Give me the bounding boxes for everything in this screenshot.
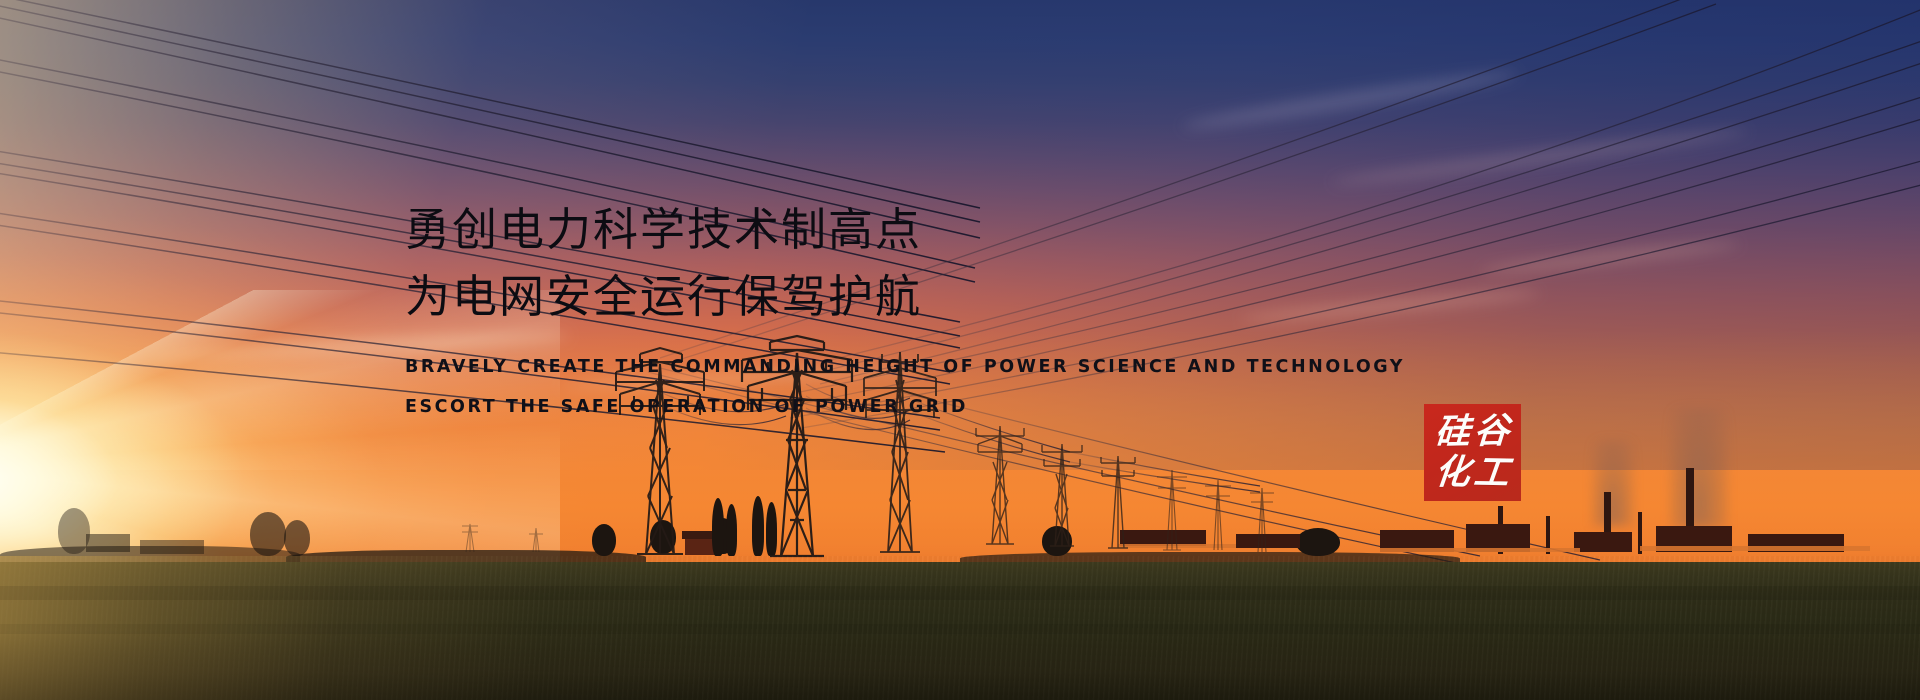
seal-text-line-2: 化工	[1429, 452, 1515, 493]
headline-line-1: 勇创电力科学技术制高点	[405, 196, 1405, 263]
subtitle-line-1: BRAVELY CREATE THE COMMANDING HEIGHT OF …	[405, 347, 1405, 387]
seal-inner: 硅谷 化工	[1424, 404, 1521, 501]
subtitle-line-2: ESCORT THE SAFE OPERATION OF POWER GRID	[405, 387, 1405, 427]
field-furrow-band-1	[0, 586, 1920, 600]
banner-copy: 勇创电力科学技术制高点 为电网安全运行保驾护航 BRAVELY CREATE T…	[405, 196, 1405, 427]
field-vignette	[0, 630, 1920, 700]
hero-banner: 勇创电力科学技术制高点 为电网安全运行保驾护航 BRAVELY CREATE T…	[0, 0, 1920, 700]
seal-text-line-1: 硅谷	[1430, 411, 1515, 453]
company-seal-logo[interactable]: 硅谷 化工	[1424, 404, 1521, 501]
headline-line-2: 为电网安全运行保驾护航	[405, 263, 1405, 330]
